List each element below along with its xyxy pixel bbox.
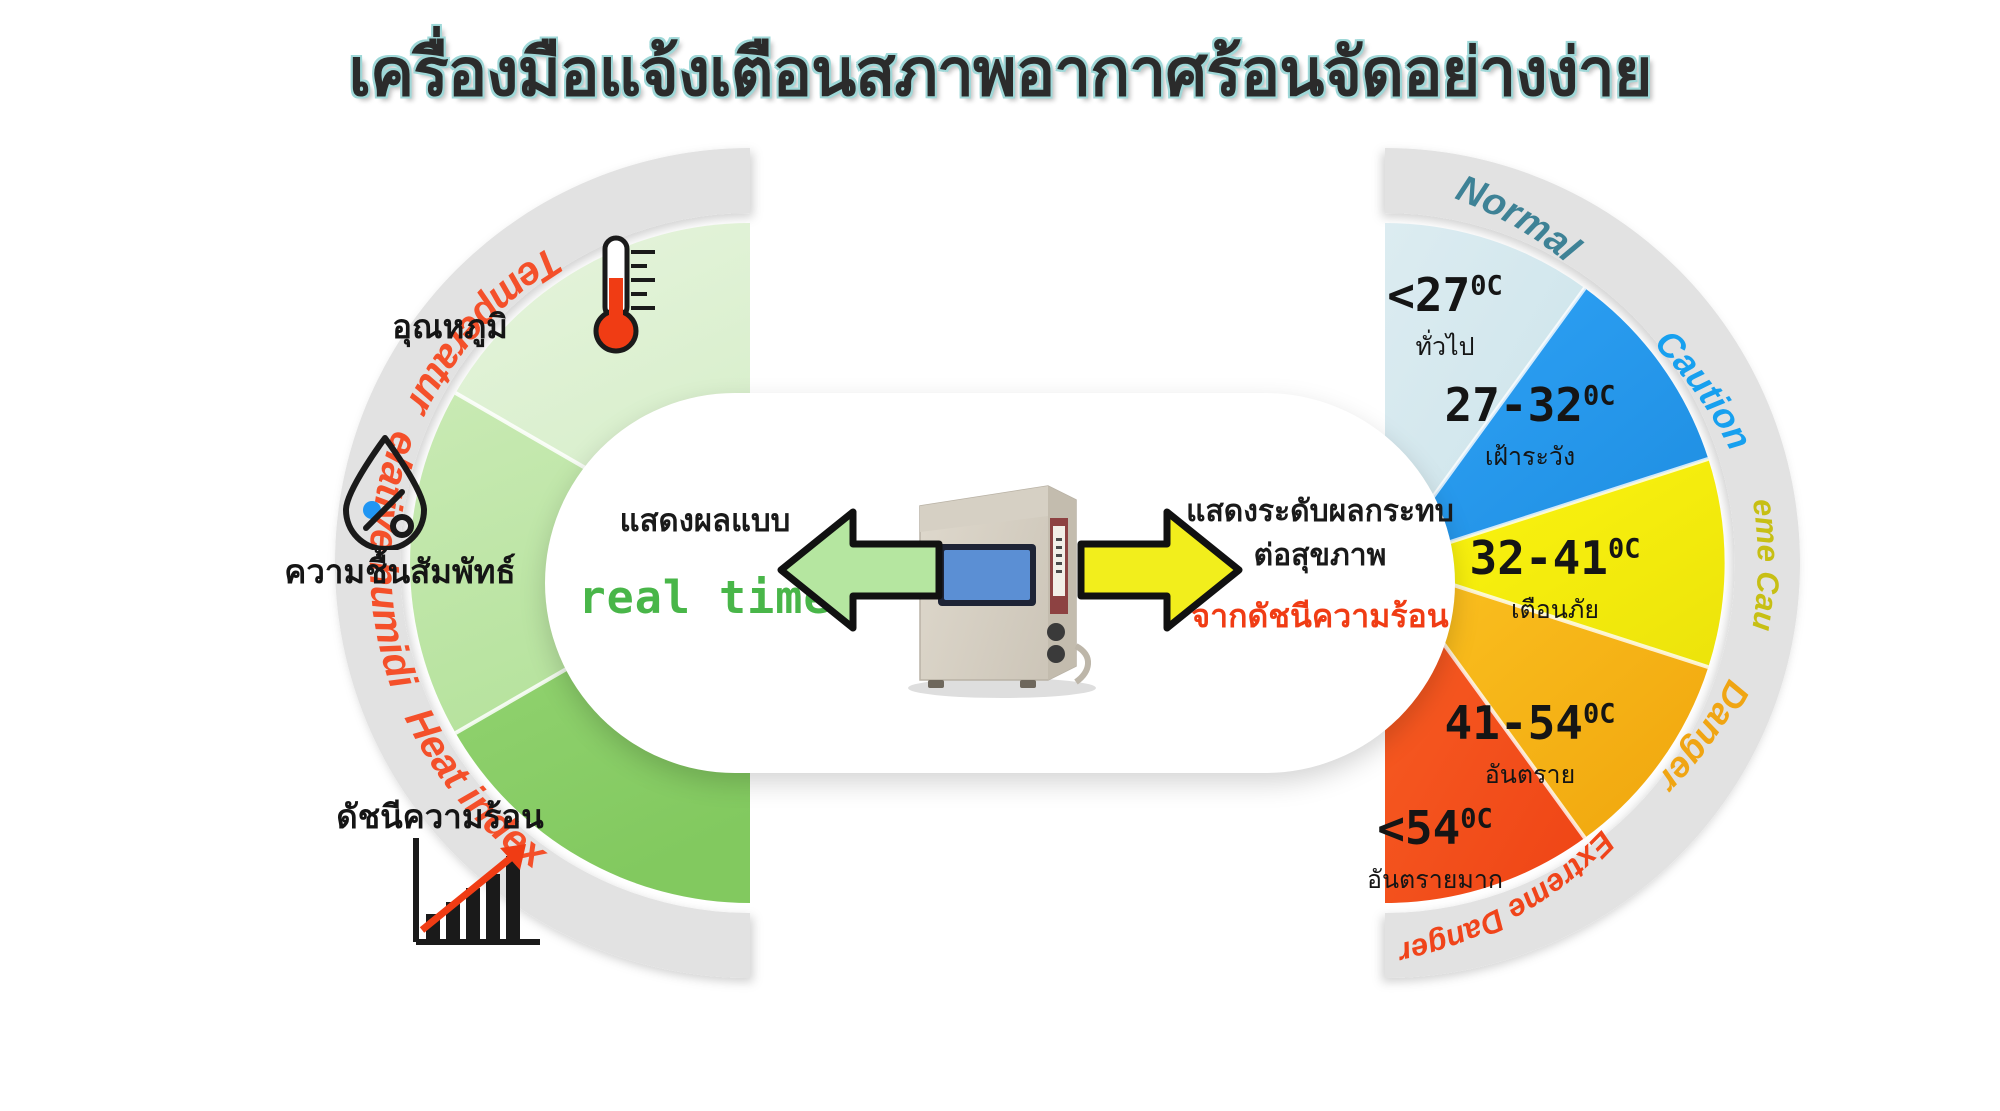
center-right-text: แสดงระดับผลกระทบ ต่อสุขภาพ จากดัชนีความร… bbox=[1150, 490, 1490, 642]
center-right-line2: ต่อสุขภาพ bbox=[1150, 534, 1490, 578]
page-title: เครื่องมือแจ้งเตือนสภาพอากาศร้อนจัดอย่าง… bbox=[0, 38, 2000, 107]
center-right-line1: แสดงระดับผลกระทบ bbox=[1150, 490, 1490, 534]
infographic-canvas: เครื่องมือแจ้งเตือนสภาพอากาศร้อนจัดอย่าง… bbox=[0, 0, 2000, 1111]
left-arrow-icon bbox=[775, 500, 945, 640]
center-right-line3: จากดัชนีความร้อน bbox=[1150, 591, 1490, 642]
